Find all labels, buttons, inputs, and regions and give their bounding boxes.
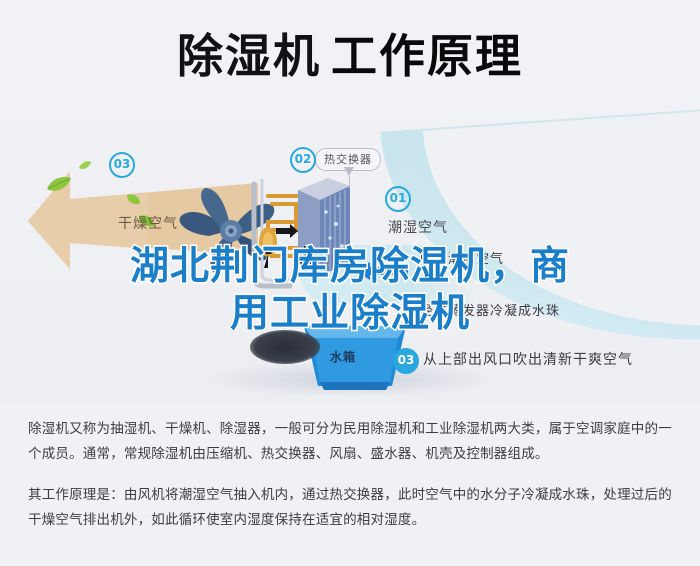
headline-primary: 除湿机 <box>177 30 321 82</box>
badge-02-heat-exchanger: 02 <box>290 147 316 173</box>
overlay-title-line-2: 用工业除湿机 <box>0 290 700 337</box>
article-body: 除湿机又称为抽湿机、干燥机、除湿器，一般可分为民用除湿机和工业除湿机两大类，属于… <box>28 416 676 532</box>
label-humid-air: 潮湿空气 <box>388 217 448 237</box>
headline-secondary: 工作原理 <box>331 30 523 82</box>
overlay-title-line-1: 湖北荆门库房除湿机，商 <box>0 243 700 290</box>
callout-stem <box>349 176 350 188</box>
badge-03-dry-air: 03 <box>109 152 135 178</box>
banner-headline: 除湿机工作原理 <box>0 28 700 84</box>
badge-03-outlet: 03 <box>393 348 419 374</box>
infographic-banner: 除湿机工作原理 <box>0 0 700 402</box>
callout-tip <box>344 167 354 176</box>
leaf-icon <box>79 157 91 175</box>
overlay-watermark-title: 湖北荆门库房除湿机，商 用工业除湿机 <box>0 243 700 337</box>
page-root: 除湿机工作原理 <box>0 0 700 566</box>
label-dry-air: 干燥空气 <box>118 213 178 233</box>
article-paragraph-1: 除湿机又称为抽湿机、干燥机、除湿器，一般可分为民用除湿机和工业除湿机两大类，属于… <box>28 416 676 466</box>
caption-03-outlet: 从上部出风口吹出清新干爽空气 <box>423 349 633 369</box>
badge-01-humid-air: 01 <box>385 186 411 212</box>
article-paragraph-2: 其工作原理是：由风机将潮湿空气抽入机内，通过热交换器，此时空气中的水分子冷凝成水… <box>28 482 676 532</box>
water-tank-label: 水箱 <box>330 348 356 365</box>
leaf-icon <box>46 176 72 198</box>
leaf-icon <box>126 193 141 211</box>
